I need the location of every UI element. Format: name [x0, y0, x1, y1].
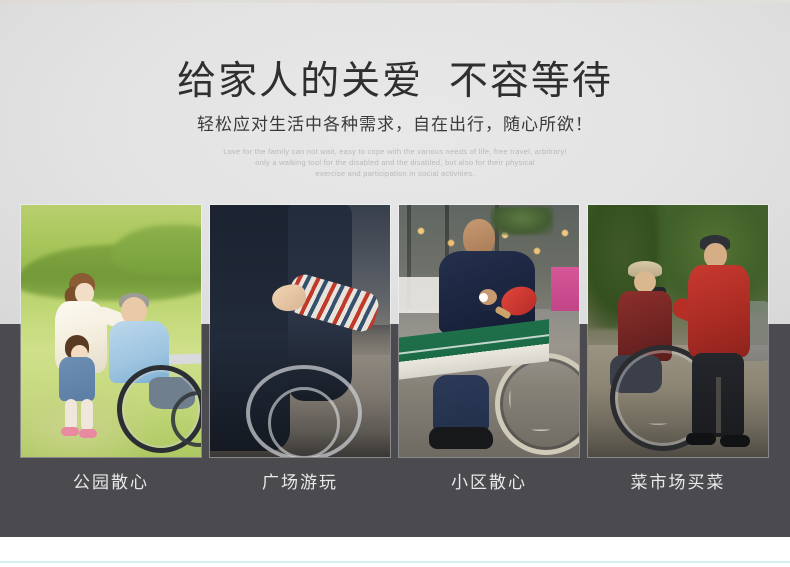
gallery-caption-park: 公园散心	[21, 472, 201, 494]
footer-divider-line	[0, 561, 790, 563]
photo-3-hanging-plant	[491, 207, 553, 235]
photo-2-scene	[210, 205, 390, 457]
photo-4-standing-man-jacket	[688, 265, 750, 357]
photo-3-scene	[399, 205, 579, 457]
photo-3-man-legs	[433, 375, 489, 433]
gallery-caption-plaza: 广场游玩	[210, 472, 390, 494]
gallery-photo-community	[399, 205, 579, 457]
promo-banner-page: 给家人的关爱 不容等待 轻松应对生活中各种需求，自在出行，随心所欲！ Love …	[0, 0, 790, 567]
photo-3-wheel-spokes	[509, 367, 573, 431]
gallery-photo-plaza	[210, 205, 390, 457]
photo-4-standing-man-shoe-left	[686, 433, 716, 445]
photo-1-scene	[21, 205, 201, 457]
photo-4-standing-man-leg-gap	[716, 377, 721, 433]
photo-4-standing-man-shoe-right	[720, 435, 750, 447]
photo-1-girl-shoe-right	[79, 429, 97, 438]
photo-1-girl-leg-right	[81, 399, 93, 431]
photo-4-wheel-spokes	[626, 361, 690, 425]
photo-3-pink-chair	[551, 267, 579, 311]
gallery: 公园散心 广场游玩 小区散心 菜市场买菜	[0, 0, 790, 567]
gallery-photo-park	[21, 205, 201, 457]
photo-1-hedge-back	[111, 225, 201, 275]
gallery-photo-market	[588, 205, 768, 457]
gallery-caption-market: 菜市场买菜	[588, 472, 768, 494]
photo-3-ping-pong-ball	[479, 293, 488, 302]
photo-3-man-shoes	[429, 427, 493, 449]
photo-4-scene	[588, 205, 768, 457]
photo-1-girl-shoe-left	[61, 427, 79, 436]
gallery-caption-community: 小区散心	[399, 472, 579, 494]
photo-1-girl-body	[59, 357, 95, 401]
photo-4-seated-person-head	[634, 271, 656, 293]
photo-2-wheelchair-wheel-inner	[268, 387, 340, 457]
